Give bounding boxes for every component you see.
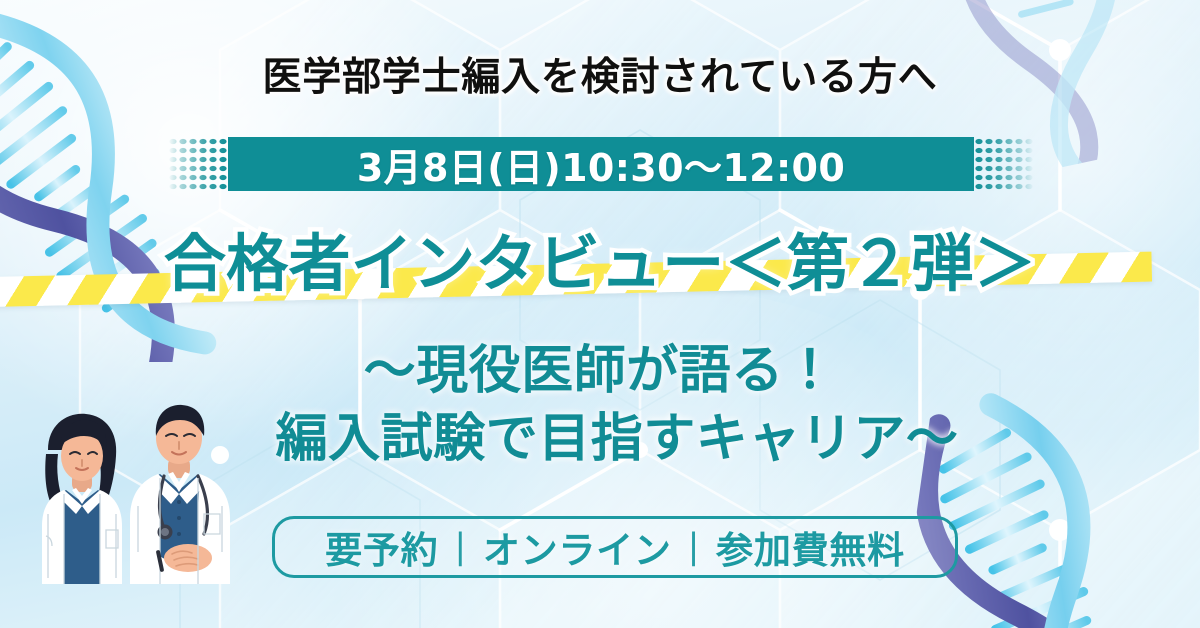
badge-item-reservation: 要予約 <box>309 520 454 574</box>
date-bar-text: 3月8日(日)10:30〜12:00 <box>228 137 974 191</box>
badge-item-free: 参加費無料 <box>700 520 921 574</box>
subtitle: 〜現役医師が語る！ 編入試験で目指すキャリア〜 <box>0 338 1200 473</box>
badge-separator-1: | <box>454 527 467 567</box>
badge-items: 要予約 | オンライン | 参加費無料 <box>309 520 921 574</box>
seminar-banner: 医学部学士編入を検討されている方へ <box>0 0 1200 628</box>
page-headline: 医学部学士編入を検討されている方へ <box>0 46 1200 102</box>
halftone-left-icon <box>168 137 228 191</box>
badge-separator-2: | <box>688 527 701 567</box>
halftone-right-icon <box>974 137 1034 191</box>
main-title: 合格者インタビュー＜第２弾＞ <box>0 213 1200 303</box>
date-bar: 3月8日(日)10:30〜12:00 <box>168 137 1034 191</box>
subtitle-line-2: 編入試験で目指すキャリア〜 <box>34 406 1200 474</box>
status-badge: 要予約 | オンライン | 参加費無料 <box>272 516 958 578</box>
subtitle-line-1: 〜現役医師が語る！ <box>0 338 1200 406</box>
badge-item-online: オンライン <box>467 520 688 574</box>
